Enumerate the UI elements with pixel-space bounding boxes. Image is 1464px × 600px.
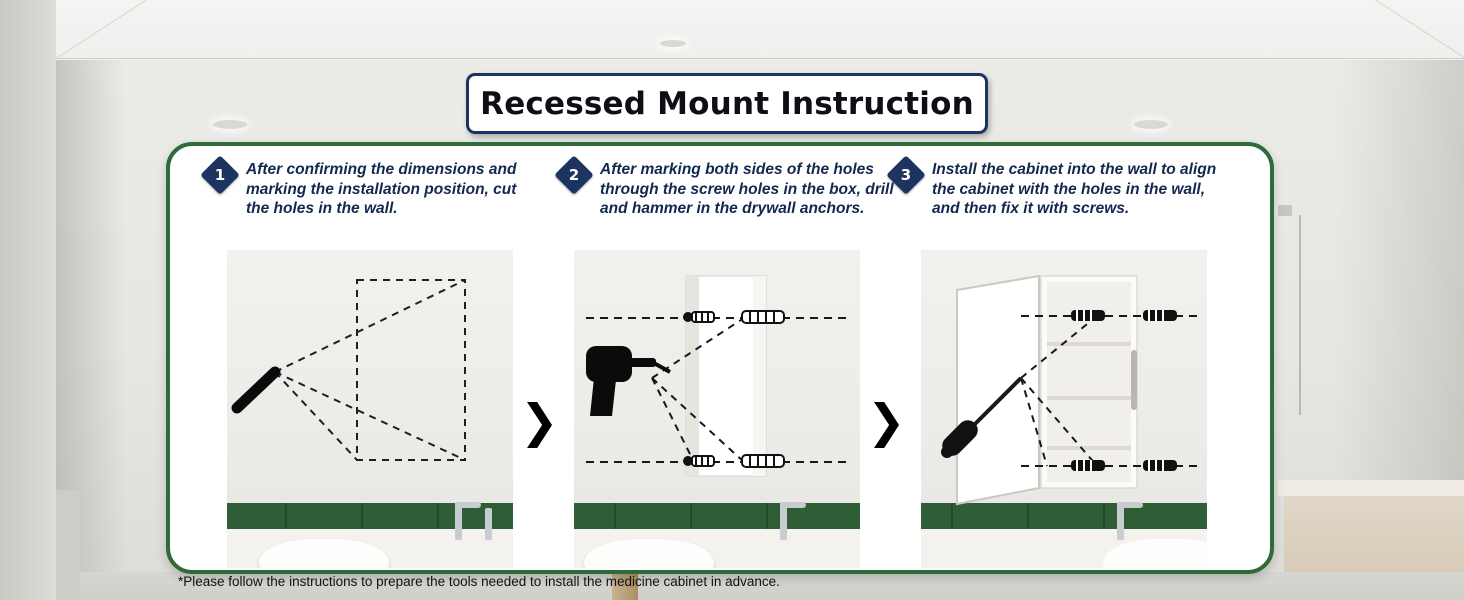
cabinet-door <box>957 276 1039 504</box>
footnote: *Please follow the instructions to prepa… <box>178 574 1078 589</box>
cabinet-shelf-1 <box>1047 342 1131 346</box>
pencil-icon <box>237 370 277 408</box>
step-3-text: Install the cabinet into the wall to ali… <box>932 160 1234 219</box>
step-1: 1 After confirming the dimensions and ma… <box>206 160 536 219</box>
photo1-markup-overlay <box>227 250 513 568</box>
drywall-anchor-top-left <box>683 312 714 322</box>
drill-icon <box>586 346 670 416</box>
screw-bottom-left <box>1071 460 1105 471</box>
step-2: 2 After marking both sides of the holes … <box>560 160 900 219</box>
drywall-anchor-top-right <box>742 311 784 323</box>
guide-line-2 <box>275 372 465 460</box>
step-3-number: 3 <box>892 161 920 189</box>
downlight-3 <box>660 40 686 47</box>
wall-opening-left-jamb <box>686 276 699 476</box>
step-1-number: 1 <box>206 161 234 189</box>
downlight-2 <box>1134 120 1168 129</box>
step-2-photo <box>574 250 860 568</box>
page-title-text: Recessed Mount Instruction <box>480 86 974 122</box>
photo2-markup-overlay <box>574 250 860 568</box>
door-frame <box>56 490 80 600</box>
screw-top-left <box>1071 310 1105 321</box>
cutout-rectangle <box>357 280 465 460</box>
wall-rod-bracket <box>1278 205 1292 216</box>
cabinet-hinge <box>1131 350 1137 410</box>
step-3-badge: 3 <box>886 155 926 195</box>
step-1-badge: 1 <box>200 155 240 195</box>
step-2-badge: 2 <box>554 155 594 195</box>
photo3-markup-overlay <box>921 250 1207 568</box>
left-wall <box>0 0 56 600</box>
arrow-step2-to-step3: ❯ <box>867 398 901 444</box>
drywall-anchor-bottom-right <box>742 455 784 467</box>
steps-row: 1 After confirming the dimensions and ma… <box>170 146 1270 236</box>
step-2-text: After marking both sides of the holes th… <box>600 160 900 219</box>
screw-top-right <box>1143 310 1177 321</box>
guide-line-3 <box>275 372 357 460</box>
wall-opening-right-jamb <box>753 276 766 476</box>
ceiling-edge-line <box>56 58 1464 59</box>
downlight-1 <box>213 120 247 129</box>
cabinet-shelf-3 <box>1047 446 1131 450</box>
guide-line-1 <box>275 280 465 372</box>
step-2-number: 2 <box>560 161 588 189</box>
step-1-text: After confirming the dimensions and mark… <box>246 160 536 219</box>
wall-rod <box>1299 215 1301 415</box>
step-1-photo <box>227 250 513 568</box>
instruction-panel: 1 After confirming the dimensions and ma… <box>166 142 1274 574</box>
page-title: Recessed Mount Instruction <box>466 73 988 134</box>
arrow-step1-to-step2: ❯ <box>520 398 554 444</box>
right-counter-top <box>1278 480 1464 496</box>
drywall-anchor-bottom-left <box>683 456 714 466</box>
screw-bottom-right <box>1143 460 1177 471</box>
step-3: 3 Install the cabinet into the wall to a… <box>892 160 1234 219</box>
cabinet-shelf-2 <box>1047 396 1131 400</box>
step-3-photo <box>921 250 1207 568</box>
